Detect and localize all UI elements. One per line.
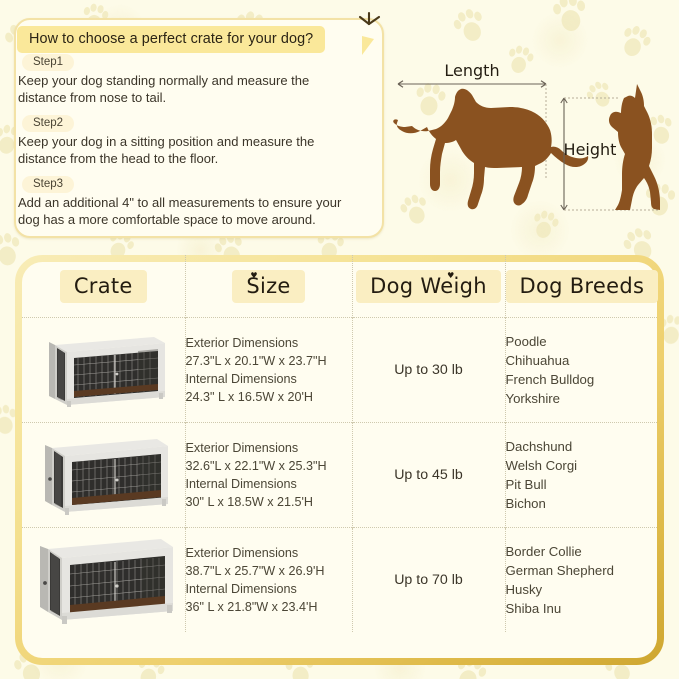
breed-item: Poodle [506, 332, 658, 351]
table-row: Exterior Dimensions 27.3"L x 20.1"W x 23… [22, 318, 657, 423]
breed-item: Pit Bull [506, 475, 658, 494]
heart-icon-dog-weigh: ♥ [447, 271, 454, 280]
header-pill-dog-breeds: Dog Breeds [506, 270, 659, 303]
step-1-text: Keep your dog standing normally and meas… [18, 73, 352, 106]
breed-item: Bichon [506, 494, 658, 513]
panel-title-text: How to choose a perfect crate for your d… [29, 31, 313, 47]
exterior-label-1: Exterior Dimensions [186, 334, 352, 352]
internal-value-2: 30" L x 18.5W x 21.5'H [186, 493, 352, 511]
breed-item: German Shepherd [506, 561, 658, 580]
header-dog-weigh-text: Dog Weigh [370, 274, 487, 298]
step-item-1: Step1 Keep your dog standing normally an… [16, 52, 352, 106]
cell-crate-medium [22, 423, 185, 528]
crate-medium-image [34, 429, 172, 521]
column-header-dog-weigh: Dog Weigh ♥ [352, 255, 505, 318]
breed-item: Chihuahua [506, 351, 658, 370]
step-item-3: Step3 Add an additional 4" to all measur… [16, 174, 352, 228]
cell-size-1: Exterior Dimensions 27.3"L x 20.1"W x 23… [185, 318, 352, 423]
cell-weight-3: Up to 70 lb [352, 528, 505, 633]
cell-crate-large [22, 528, 185, 633]
step-item-2: Step2 Keep your dog in a sitting positio… [16, 113, 352, 167]
breed-item: Dachshund [506, 437, 658, 456]
exterior-value-2: 32.6"L x 22.1"W x 25.3"H [186, 457, 352, 475]
internal-label-2: Internal Dimensions [186, 475, 352, 493]
exterior-label-3: Exterior Dimensions [186, 544, 352, 562]
internal-label-3: Internal Dimensions [186, 580, 352, 598]
cell-breeds-2: Dachshund Welsh Corgi Pit Bull Bichon [505, 423, 657, 528]
cell-size-3: Exterior Dimensions 38.7"L x 25.7"W x 26… [185, 528, 352, 633]
dog-measurement-illustration: Length Height [392, 50, 674, 235]
internal-value-3: 36" L x 21.8"W x 23.4'H [186, 598, 352, 616]
breed-item: Welsh Corgi [506, 456, 658, 475]
internal-label-1: Internal Dimensions [186, 370, 352, 388]
breed-item: Husky [506, 580, 658, 599]
sparkle-burst-icon [352, 8, 386, 38]
crate-small-image [38, 327, 168, 413]
header-pill-size: Size ♥ [232, 270, 304, 303]
breed-item: Yorkshire [506, 389, 658, 408]
banner-tail-decoration [362, 36, 374, 55]
steps-list: Step1 Keep your dog standing normally an… [16, 52, 352, 228]
step-2-pill: Step2 [22, 115, 74, 132]
heart-icon-size: ♥ [250, 271, 257, 280]
crate-large-image [29, 531, 177, 629]
table-row: Exterior Dimensions 32.6"L x 22.1"W x 25… [22, 423, 657, 528]
header-pill-dog-weigh: Dog Weigh ♥ [356, 270, 501, 303]
table-header-row: Crate Size ♥ Dog Weigh ♥ Dog Breeds [22, 255, 657, 318]
cell-breeds-3: Border Collie German Shepherd Husky Shib… [505, 528, 657, 633]
step-3-text: Add an additional 4" to all measurements… [18, 195, 352, 228]
internal-value-1: 24.3" L x 16.5W x 20'H [186, 388, 352, 406]
cell-weight-1: Up to 30 lb [352, 318, 505, 423]
breed-item: Border Collie [506, 542, 658, 561]
column-header-size: Size ♥ [185, 255, 352, 318]
crate-size-table: Crate Size ♥ Dog Weigh ♥ Dog Breeds [22, 255, 657, 632]
cell-size-2: Exterior Dimensions 32.6"L x 22.1"W x 25… [185, 423, 352, 528]
height-label: Height [564, 140, 617, 159]
exterior-label-2: Exterior Dimensions [186, 439, 352, 457]
column-header-crate: Crate [22, 255, 185, 318]
panel-title-banner: How to choose a perfect crate for your d… [17, 26, 325, 53]
cell-weight-2: Up to 45 lb [352, 423, 505, 528]
table-row: Exterior Dimensions 38.7"L x 25.7"W x 26… [22, 528, 657, 633]
step-1-pill: Step1 [22, 54, 74, 71]
exterior-value-1: 27.3"L x 20.1"W x 23.7"H [186, 352, 352, 370]
cell-crate-small [22, 318, 185, 423]
sitting-dog-ear-highlight [644, 101, 647, 104]
step-3-pill: Step3 [22, 176, 74, 193]
step-2-text: Keep your dog in a sitting position and … [18, 134, 352, 167]
column-header-dog-breeds: Dog Breeds [505, 255, 657, 318]
cell-breeds-1: Poodle Chihuahua French Bulldog Yorkshir… [505, 318, 657, 423]
breed-item: French Bulldog [506, 370, 658, 389]
header-pill-crate: Crate [60, 270, 147, 303]
exterior-value-3: 38.7"L x 25.7"W x 26.9'H [186, 562, 352, 580]
breed-item: Shiba Inu [506, 599, 658, 618]
